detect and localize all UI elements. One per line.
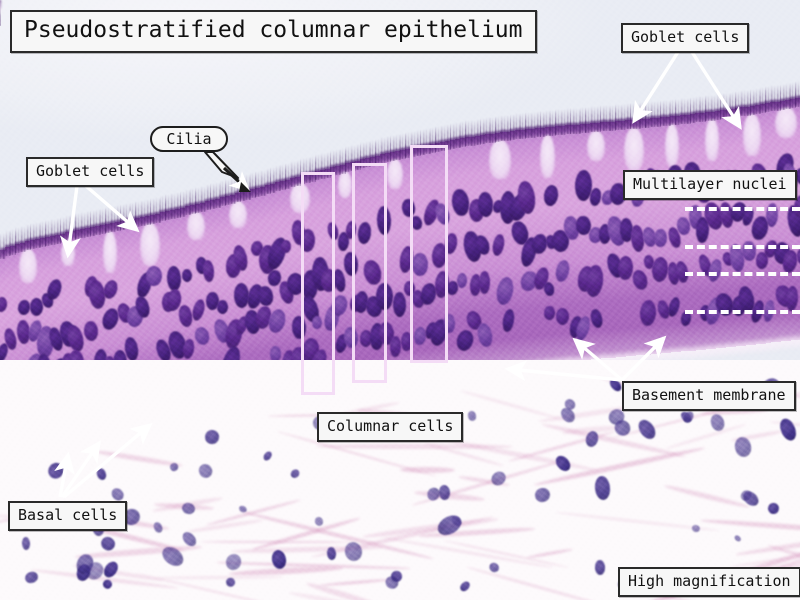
goblet-cell — [775, 107, 797, 138]
fibroblast-nucleus — [262, 450, 274, 463]
fibroblast-nucleus — [594, 476, 611, 501]
goblet-cell — [229, 201, 248, 228]
nuclei-layer-line-1 — [685, 207, 800, 211]
epithelial-nucleus — [653, 229, 666, 247]
fibroblast-nucleus — [778, 416, 800, 443]
goblet-cell — [624, 128, 644, 171]
nuclei-layer-line-2 — [685, 245, 800, 249]
fibroblast-nucleus — [733, 534, 742, 543]
fibroblast-nucleus — [95, 467, 108, 482]
collagen-fiber — [156, 576, 284, 580]
columnar-cell-box-2 — [352, 163, 387, 383]
label-cilia: Cilia — [150, 126, 228, 152]
epithelial-nucleus — [556, 308, 569, 325]
epithelial-nucleus — [477, 192, 493, 218]
fibroblast-nucleus — [458, 580, 471, 594]
fibroblast-nucleus — [24, 570, 40, 585]
fibroblast-nucleus — [152, 521, 164, 534]
label-basal-cells: Basal cells — [8, 501, 127, 531]
columnar-cell-box-1 — [301, 172, 335, 395]
goblet-cell — [587, 131, 605, 161]
collagen-fiber — [316, 444, 513, 449]
goblet-cell — [743, 114, 761, 157]
fibroblast-nucleus — [196, 461, 214, 480]
fibroblast-nucleus — [313, 516, 324, 527]
fibroblast-nucleus — [533, 486, 551, 504]
fibroblast-nucleus — [553, 454, 573, 474]
epithelial-nucleus — [543, 305, 554, 320]
goblet-cell — [187, 212, 204, 240]
label-high-magnification: High magnification — [618, 567, 800, 597]
label-basement-membrane: Basement membrane — [622, 381, 796, 411]
epithelial-nucleus — [146, 266, 162, 286]
page-title: Pseudostratified columnar epithelium — [10, 10, 537, 53]
nuclei-layer-line-4 — [685, 310, 800, 314]
collagen-fiber — [700, 518, 800, 537]
fibroblast-nucleus — [224, 551, 244, 572]
goblet-cell — [338, 171, 353, 198]
fibroblast-nucleus — [691, 524, 700, 533]
fibroblast-nucleus — [595, 560, 605, 575]
fibroblast-nucleus — [21, 536, 30, 549]
nuclei-layer-line-3 — [685, 272, 800, 276]
goblet-cell — [61, 240, 74, 266]
goblet-cell — [489, 140, 510, 179]
goblet-cell — [665, 124, 679, 167]
fibroblast-nucleus — [45, 459, 67, 481]
basement-membrane-band — [0, 0, 1, 16]
label-columnar-cells: Columnar cells — [317, 412, 463, 442]
columnar-cell-box-3 — [410, 145, 448, 363]
epithelial-nucleus — [393, 291, 407, 316]
label-goblet-cells-right: Goblet cells — [621, 23, 749, 53]
label-multilayer-nuclei: Multilayer nuclei — [623, 170, 797, 200]
label-goblet-cells-left: Goblet cells — [26, 157, 154, 187]
fibroblast-nucleus — [636, 417, 659, 442]
goblet-cell — [103, 231, 117, 273]
fibroblast-nucleus — [768, 503, 780, 515]
fibroblast-nucleus — [204, 429, 220, 446]
collagen-fiber — [527, 548, 573, 559]
epithelial-nucleus — [456, 273, 466, 288]
collagen-fiber — [400, 467, 455, 473]
goblet-cell — [140, 223, 160, 266]
goblet-cell — [705, 119, 718, 160]
goblet-cell — [387, 159, 403, 189]
collagen-fiber — [664, 483, 751, 509]
goblet-cell — [19, 249, 36, 283]
fibroblast-nucleus — [466, 410, 476, 421]
fibroblast-nucleus — [289, 468, 301, 480]
collagen-fiber — [320, 578, 391, 587]
micrograph-canvas: Pseudostratified columnar epithelium Gob… — [0, 0, 800, 600]
